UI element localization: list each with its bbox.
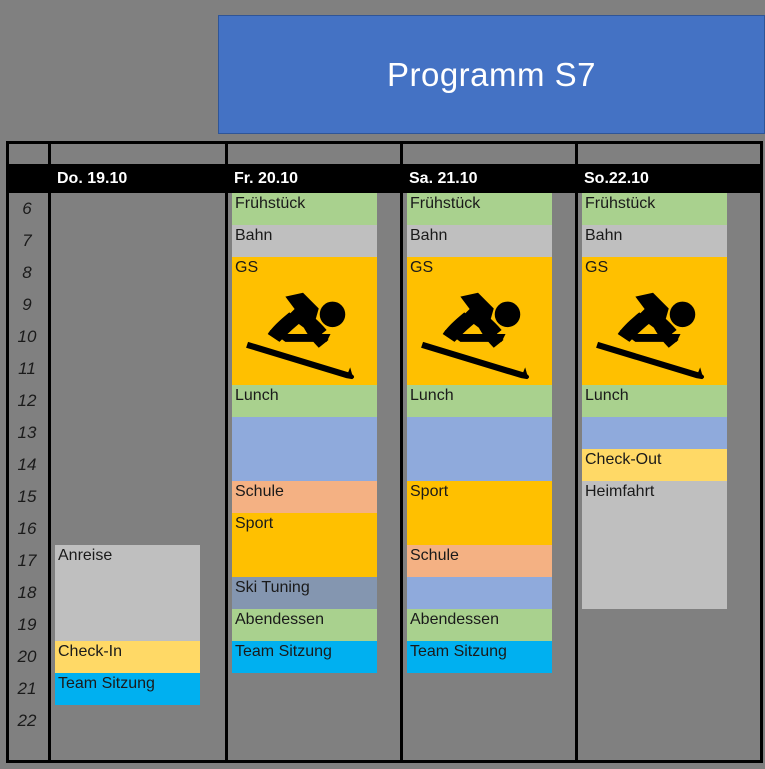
day-column-friday: FrühstückBahnGSLunchSchuleSportSki Tunin… [228, 193, 400, 760]
header-blank-hour-col [6, 144, 48, 164]
event-label: Team Sitzung [58, 675, 155, 692]
event-label: Schule [410, 547, 459, 564]
event-block-untitled[interactable] [582, 417, 727, 449]
hour-label-15: 15 [6, 481, 48, 513]
column-divider-1 [48, 144, 51, 760]
hour-label-18: 18 [6, 577, 48, 609]
event-block-fr-hst-ck[interactable]: Frühstück [232, 193, 377, 225]
event-block-gs[interactable]: GS [232, 257, 377, 385]
event-block-fr-hst-ck[interactable]: Frühstück [582, 193, 727, 225]
header-blank-sunday [578, 144, 763, 164]
event-label: Lunch [410, 387, 454, 404]
event-block-schule[interactable]: Schule [407, 545, 552, 577]
title-banner: Programm S7 [218, 15, 765, 134]
column-divider-0 [6, 144, 9, 760]
event-label: Team Sitzung [410, 643, 507, 660]
hour-label-12: 12 [6, 385, 48, 417]
event-label: Check-Out [585, 451, 661, 468]
header-blank-thursday [51, 144, 225, 164]
event-block-anreise[interactable]: Anreise [55, 545, 200, 641]
event-label: Abendessen [235, 611, 324, 628]
day-column-saturday: FrühstückBahnGSLunchSportSchuleAbendesse… [403, 193, 575, 760]
event-label: Lunch [235, 387, 279, 404]
event-block-lunch[interactable]: Lunch [232, 385, 377, 417]
hour-label-17: 17 [6, 545, 48, 577]
hour-label-10: 10 [6, 321, 48, 353]
hour-label-21: 21 [6, 673, 48, 705]
column-divider-5 [760, 144, 763, 760]
skier-icon [596, 279, 714, 385]
hour-label-8: 8 [6, 257, 48, 289]
hour-label-22: 22 [6, 705, 48, 737]
event-block-heimfahrt[interactable]: Heimfahrt [582, 481, 727, 609]
event-block-sport[interactable]: Sport [407, 481, 552, 545]
date-header-thursday[interactable]: Do. 19.10 [51, 164, 225, 193]
event-label: Anreise [58, 547, 112, 564]
hour-label-19: 19 [6, 609, 48, 641]
day-column-thursday: AnreiseCheck-InTeam Sitzung [51, 193, 225, 760]
event-label: GS [585, 259, 608, 276]
event-block-schule[interactable]: Schule [232, 481, 377, 513]
event-label: Schule [235, 483, 284, 500]
event-label: Lunch [585, 387, 629, 404]
event-label: Abendessen [410, 611, 499, 628]
event-block-team-sitzung[interactable]: Team Sitzung [407, 641, 552, 673]
event-block-lunch[interactable]: Lunch [407, 385, 552, 417]
header-blank-friday [228, 144, 400, 164]
date-header-friday[interactable]: Fr. 20.10 [228, 164, 400, 193]
event-block-abendessen[interactable]: Abendessen [232, 609, 377, 641]
date-header-sunday[interactable]: So.22.10 [578, 164, 763, 193]
event-label: Heimfahrt [585, 483, 654, 500]
event-block-gs[interactable]: GS [407, 257, 552, 385]
event-block-fr-hst-ck[interactable]: Frühstück [407, 193, 552, 225]
event-label: Sport [410, 483, 448, 500]
event-block-untitled[interactable] [232, 417, 377, 481]
header-blank-saturday [403, 144, 575, 164]
event-label: Bahn [235, 227, 272, 244]
event-block-check-in[interactable]: Check-In [55, 641, 200, 673]
day-column-sunday: FrühstückBahnGSLunchCheck-OutHeimfahrt [578, 193, 763, 760]
event-label: Sport [235, 515, 273, 532]
schedule-grid-body: 678910111213141516171819202122 AnreiseCh… [6, 193, 763, 760]
event-block-check-out[interactable]: Check-Out [582, 449, 727, 481]
event-block-ski-tuning[interactable]: Ski Tuning [232, 577, 377, 609]
date-header-saturday[interactable]: Sa. 21.10 [403, 164, 575, 193]
event-label: Frühstück [235, 195, 305, 212]
event-block-sport[interactable]: Sport [232, 513, 377, 577]
event-label: Frühstück [410, 195, 480, 212]
event-block-bahn[interactable]: Bahn [582, 225, 727, 257]
event-block-team-sitzung[interactable]: Team Sitzung [232, 641, 377, 673]
event-label: GS [410, 259, 433, 276]
event-label: Team Sitzung [235, 643, 332, 660]
event-block-bahn[interactable]: Bahn [232, 225, 377, 257]
hour-label-11: 11 [6, 353, 48, 385]
hour-label-20: 20 [6, 641, 48, 673]
event-label: Bahn [410, 227, 447, 244]
event-block-bahn[interactable]: Bahn [407, 225, 552, 257]
hour-label-7: 7 [6, 225, 48, 257]
event-block-untitled[interactable] [407, 577, 552, 609]
hour-label-16: 16 [6, 513, 48, 545]
hour-label-14: 14 [6, 449, 48, 481]
event-label: Check-In [58, 643, 122, 660]
event-block-untitled[interactable] [407, 417, 552, 481]
event-block-gs[interactable]: GS [582, 257, 727, 385]
column-divider-3 [400, 144, 403, 760]
skier-icon [246, 279, 364, 385]
schedule-page: Programm S7 Do. 19.10Fr. 20.10Sa. 21.10S… [0, 0, 765, 769]
page-title: Programm S7 [387, 56, 596, 94]
event-label: GS [235, 259, 258, 276]
hour-label-13: 13 [6, 417, 48, 449]
event-block-team-sitzung[interactable]: Team Sitzung [55, 673, 200, 705]
event-block-lunch[interactable]: Lunch [582, 385, 727, 417]
event-label: Frühstück [585, 195, 655, 212]
skier-icon [421, 279, 539, 385]
hour-label-6: 6 [6, 193, 48, 225]
event-label: Ski Tuning [235, 579, 310, 596]
hour-label-9: 9 [6, 289, 48, 321]
event-label: Bahn [585, 227, 622, 244]
column-divider-4 [575, 144, 578, 760]
column-divider-2 [225, 144, 228, 760]
event-block-abendessen[interactable]: Abendessen [407, 609, 552, 641]
schedule-table: Do. 19.10Fr. 20.10Sa. 21.10So.22.10 6789… [6, 141, 763, 763]
